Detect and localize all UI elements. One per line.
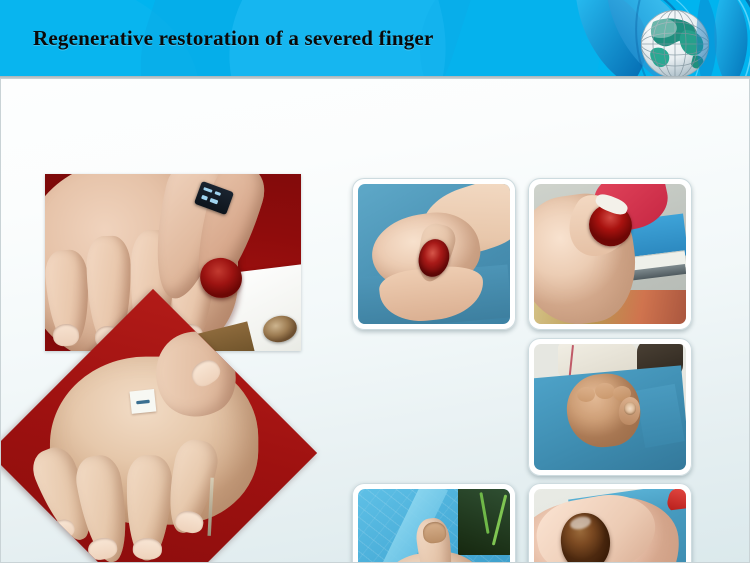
slide-header: Regenerative restoration of a severed fi… <box>0 0 750 78</box>
g3-knuckle-1 <box>577 387 595 402</box>
g3-scene <box>534 344 686 470</box>
g3-knuckle-2 <box>595 383 615 399</box>
g5-scene <box>534 489 686 563</box>
photo-restored-finger-with-nail <box>352 483 516 563</box>
g2-scene <box>534 184 686 324</box>
photo2-nail-3 <box>132 538 162 560</box>
page-title: Regenerative restoration of a severed fi… <box>33 26 433 51</box>
photo-fist-healing-blue-drape <box>528 338 692 476</box>
slide-body: Fig. 1 <box>0 79 750 563</box>
photo-open-wound-palm-blue-drape <box>352 178 516 330</box>
globe-icon <box>535 0 750 78</box>
slide-root: Regenerative restoration of a severed fi… <box>0 0 750 563</box>
g1-scene <box>358 184 510 324</box>
photo1-nail-1 <box>52 323 79 347</box>
photo2-adhesive-tape <box>129 389 156 414</box>
photo2-content <box>23 323 283 563</box>
photo-bloody-fingertip-closeup <box>528 178 692 330</box>
photo-healing-fingertip-scab <box>528 483 692 563</box>
g4-scene <box>358 489 510 563</box>
g3-regenerating-tip <box>624 402 636 415</box>
